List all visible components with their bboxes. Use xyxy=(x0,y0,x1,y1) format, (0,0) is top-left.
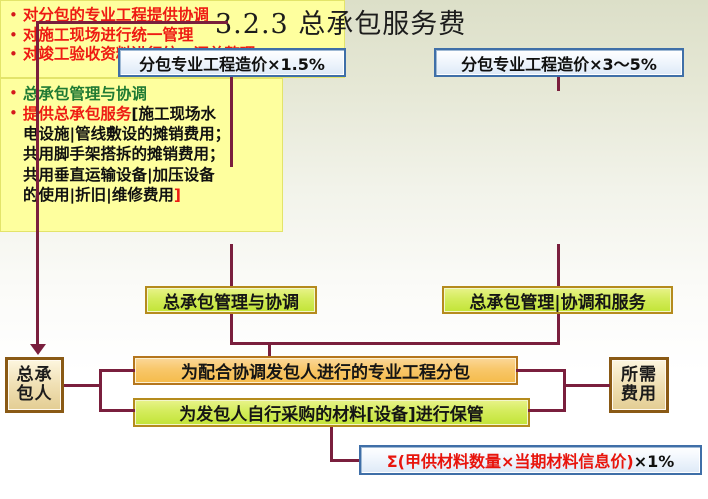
connector-mid-join-horizontal xyxy=(230,342,560,345)
formula-bottom-body: 甲供材料数量×当期材料信息价 xyxy=(405,452,626,471)
right-cost-line2: 费用 xyxy=(621,385,657,404)
title-connector-horizontal xyxy=(36,21,228,24)
mid-box-right: 总承包管理|协调和服务 xyxy=(442,286,673,314)
left-actor-box: 总承 包人 xyxy=(5,357,64,413)
connector-midleft-down xyxy=(230,314,233,344)
formula-box-left: 分包专业工程造价×1.5% xyxy=(118,48,346,77)
formula-box-bottom: Σ(甲供材料数量×当期材料信息价)×1% xyxy=(359,445,702,475)
connector-actor-to-orange xyxy=(99,369,135,372)
connector-actor-bracket-vertical xyxy=(99,369,102,412)
bullet-dot-icon: • xyxy=(9,104,18,122)
service-box-subcontract-label: 为配合协调发包人进行的专业工程分包 xyxy=(181,358,470,383)
connector-green-to-right-bracket xyxy=(528,409,566,412)
right-cost-line1: 所需 xyxy=(621,366,657,385)
note-right-item-2-text: 提供总承包服务[施工现场水 xyxy=(23,104,216,124)
connector-left-note-to-midbox xyxy=(230,244,233,286)
service-box-storage: 为发包人自行采购的材料[设备]进行保管 xyxy=(133,398,530,427)
connector-left-formula-to-note xyxy=(230,77,233,167)
mid-box-left: 总承包管理与协调 xyxy=(145,286,317,314)
formula-box-right: 分包专业工程造价×3～5% xyxy=(434,48,684,77)
connector-actor-stub xyxy=(64,384,102,387)
service-box-storage-label: 为发包人自行采购的材料[设备]进行保管 xyxy=(179,400,484,425)
formula-bottom-text: Σ(甲供材料数量×当期材料信息价)×1% xyxy=(387,448,675,472)
right-cost-box: 所需 费用 xyxy=(609,357,669,413)
note-panel-right: • 总承包管理与协调 • 提供总承包服务[施工现场水 电设施|管线敷设的摊销费用… xyxy=(0,78,283,232)
note-right-item-2-line5: 的使用|折旧|维修费用] xyxy=(9,185,275,205)
formula-bottom-tail: ×1% xyxy=(634,452,675,471)
mid-box-right-label: 总承包管理|协调和服务 xyxy=(469,288,645,313)
note-right-item-2-line3: 共用脚手架搭拆的摊销费用； xyxy=(9,144,275,164)
connector-right-bracket-vertical xyxy=(563,369,566,412)
bullet-dot-icon: • xyxy=(9,84,18,102)
formula-bottom-sigma: Σ( xyxy=(387,452,405,471)
connector-midright-down xyxy=(557,314,560,344)
bullet-dot-icon: • xyxy=(9,45,18,63)
note-right-item-2: • 提供总承包服务[施工现场水 xyxy=(9,104,275,124)
service-box-subcontract: 为配合协调发包人进行的专业工程分包 xyxy=(133,356,518,385)
note-right-item-1-text: 总承包管理与协调 xyxy=(23,84,147,104)
note-right-item-2-line5-text: 的使用|折旧|维修费用 xyxy=(23,186,174,204)
formula-bottom-close: ) xyxy=(626,452,633,471)
title-connector-vertical xyxy=(36,21,39,346)
connector-actor-to-green xyxy=(99,409,135,412)
bullet-dot-icon: • xyxy=(9,6,18,24)
diagram-canvas: 3.2.3 总承包服务费 分包专业工程造价×1.5% 分包专业工程造价×3～5%… xyxy=(0,0,708,499)
note-right-item-1: • 总承包管理与协调 xyxy=(9,84,275,104)
formula-left-text: 分包专业工程造价×1.5% xyxy=(139,51,325,75)
connector-green-to-bottom-formula-horizontal xyxy=(330,459,362,462)
left-actor-line1: 总承 xyxy=(17,366,53,385)
note-right-item-2-line2: 电设施|管线敷设的摊销费用； xyxy=(9,124,275,144)
formula-right-text: 分包专业工程造价×3～5% xyxy=(461,51,657,75)
note-right-item-2-line4: 共用垂直运输设备|加压设备 xyxy=(9,165,275,185)
note-right-item-2-highlight: 提供总承包服务 xyxy=(23,105,132,123)
connector-green-to-bottom-formula-vertical xyxy=(330,427,333,461)
bullet-dot-icon: • xyxy=(9,26,18,44)
mid-box-left-label: 总承包管理与协调 xyxy=(163,288,299,313)
connector-right-formula-to-note xyxy=(557,77,560,91)
connector-right-bracket-to-cost xyxy=(563,384,610,387)
note-right-item-2-line1: [施工现场水 xyxy=(131,105,216,123)
page-title: 3.2.3 总承包服务费 xyxy=(215,2,466,41)
note-right-item-2-close-bracket: ] xyxy=(174,186,181,204)
left-actor-line2: 包人 xyxy=(17,385,53,404)
arrow-to-left-actor-icon xyxy=(30,344,46,355)
connector-orange-to-right-bracket xyxy=(516,369,566,372)
connector-right-note-to-midbox xyxy=(557,244,560,286)
note-left-item-2-text: 对施工现场进行统一管理 xyxy=(23,26,194,46)
